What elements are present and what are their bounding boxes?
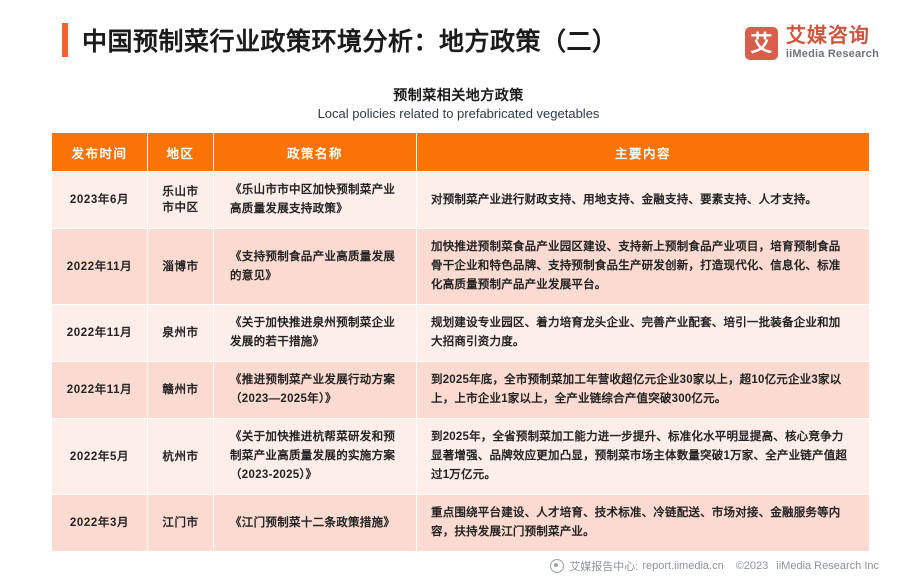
column-header-name: 政策名称 (214, 133, 417, 172)
footer-copyright: ©2023 (736, 560, 769, 572)
table-row: 2022年11月 泉州市 《关于加快推进泉州预制菜企业发展的若干措施》 规划建设… (52, 305, 870, 362)
cell-policy-name: 《支持预制食品产业高质量发展的意见》 (214, 229, 417, 305)
cell-policy-name: 《乐山市市中区加快预制菜产业高质量发展支持政策》 (214, 172, 417, 229)
cell-date: 2022年11月 (52, 229, 148, 305)
cell-content: 对预制菜产业进行财政支持、用地支持、金融支持、要素支持、人才支持。 (417, 172, 870, 229)
logo-mark-icon: 艾 (745, 27, 778, 60)
cell-content: 到2025年底，全市预制菜加工年营收超亿元企业30家以上，超10亿元企业3家以上… (417, 362, 870, 419)
chart-subtitle-cn: 预制菜相关地方政策 (0, 85, 917, 105)
logo-name-en: iiMedia Research (786, 47, 879, 61)
title-accent-bar (62, 23, 68, 57)
cell-region: 乐山市市中区 (148, 172, 214, 229)
cell-policy-name: 《江门预制菜十二条政策措施》 (214, 495, 417, 552)
table-row: 2022年11月 赣州市 《推进预制菜产业发展行动方案（2023—2025年）》… (52, 362, 870, 419)
column-header-region: 地区 (148, 133, 214, 172)
logo-name-cn: 艾媒咨询 (786, 26, 879, 47)
cell-date: 2023年6月 (52, 172, 148, 229)
cell-region: 江门市 (148, 495, 214, 552)
policy-table-wrap: 发布时间 地区 政策名称 主要内容 2023年6月 乐山市市中区 《乐山市市中区… (51, 132, 869, 552)
cell-region: 杭州市 (148, 419, 214, 495)
column-header-content: 主要内容 (417, 133, 870, 172)
table-row: 2023年6月 乐山市市中区 《乐山市市中区加快预制菜产业高质量发展支持政策》 … (52, 172, 870, 229)
logo-text-block: 艾媒咨询 iiMedia Research (786, 26, 879, 61)
cell-date: 2022年3月 (52, 495, 148, 552)
policy-table: 发布时间 地区 政策名称 主要内容 2023年6月 乐山市市中区 《乐山市市中区… (51, 132, 870, 552)
cell-content: 规划建设专业园区、着力培育龙头企业、完善产业配套、培引一批装备企业和加大招商引资… (417, 305, 870, 362)
cell-date: 2022年11月 (52, 362, 148, 419)
report-center-icon (550, 559, 564, 573)
column-header-date: 发布时间 (52, 133, 148, 172)
page-title: 中国预制菜行业政策环境分析：地方政策（二） (82, 22, 618, 58)
cell-policy-name: 《推进预制菜产业发展行动方案（2023—2025年）》 (214, 362, 417, 419)
table-header: 发布时间 地区 政策名称 主要内容 (52, 133, 870, 172)
cell-content: 到2025年，全省预制菜加工能力进一步提升、标准化水平明显提高、核心竞争力显著增… (417, 419, 870, 495)
brand-logo: 艾 艾媒咨询 iiMedia Research (745, 26, 879, 61)
page-footer: 艾媒报告中心: report.iimedia.cn ©2023 iiMedia … (550, 558, 879, 574)
title-block: 中国预制菜行业政策环境分析：地方政策（二） (62, 22, 618, 58)
page-header: 中国预制菜行业政策环境分析：地方政策（二） 艾 艾媒咨询 iiMedia Res… (0, 0, 917, 82)
table-row: 2022年3月 江门市 《江门预制菜十二条政策措施》 重点围绕平台建设、人才培育… (52, 495, 870, 552)
footer-company: iiMedia Research Inc (776, 560, 879, 572)
footer-url[interactable]: report.iimedia.cn (642, 560, 723, 572)
table-row: 2022年5月 杭州市 《关于加快推进杭帮菜研发和预制菜产业高质量发展的实施方案… (52, 419, 870, 495)
cell-date: 2022年5月 (52, 419, 148, 495)
cell-region: 淄博市 (148, 229, 214, 305)
table-row: 2022年11月 淄博市 《支持预制食品产业高质量发展的意见》 加快推进预制菜食… (52, 229, 870, 305)
cell-date: 2022年11月 (52, 305, 148, 362)
table-body: 2023年6月 乐山市市中区 《乐山市市中区加快预制菜产业高质量发展支持政策》 … (52, 172, 870, 552)
cell-content: 重点围绕平台建设、人才培育、技术标准、冷链配送、市场对接、金融服务等内容，扶持发… (417, 495, 870, 552)
cell-policy-name: 《关于加快推进泉州预制菜企业发展的若干措施》 (214, 305, 417, 362)
cell-policy-name: 《关于加快推进杭帮菜研发和预制菜产业高质量发展的实施方案（2023-2025）》 (214, 419, 417, 495)
cell-region: 赣州市 (148, 362, 214, 419)
chart-subtitle-en: Local policies related to prefabricated … (0, 106, 917, 121)
cell-content: 加快推进预制菜食品产业园区建设、支持新上预制食品产业项目，培育预制食品骨干企业和… (417, 229, 870, 305)
cell-region: 泉州市 (148, 305, 214, 362)
table-header-row: 发布时间 地区 政策名称 主要内容 (52, 133, 870, 172)
footer-source-label: 艾媒报告中心: (569, 558, 638, 574)
